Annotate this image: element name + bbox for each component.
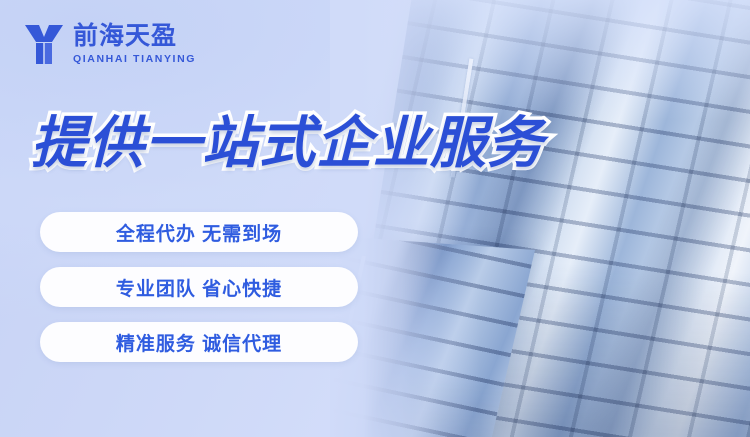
- feature-pill-2[interactable]: 专业团队 省心快捷: [40, 267, 358, 307]
- tianying-y-mark-icon: [24, 22, 64, 66]
- brand-logo[interactable]: 前海天盈 QIANHAI TIANYING: [24, 22, 196, 66]
- feature-pill-1[interactable]: 全程代办 无需到场: [40, 212, 358, 252]
- feature-pill-2-label: 专业团队 省心快捷: [116, 274, 282, 301]
- brand-name-en: QIANHAI TIANYING: [73, 54, 196, 65]
- brand-logo-text: 前海天盈 QIANHAI TIANYING: [73, 24, 196, 65]
- feature-pill-1-label: 全程代办 无需到场: [116, 219, 282, 246]
- feature-pill-list: 全程代办 无需到场 专业团队 省心快捷 精准服务 诚信代理: [40, 212, 358, 362]
- building-photo: [330, 0, 750, 437]
- promo-banner: 前海天盈 QIANHAI TIANYING 提供一站式企业服务 全程代办 无需到…: [0, 0, 750, 437]
- brand-name-cn: 前海天盈: [73, 24, 196, 49]
- feature-pill-3[interactable]: 精准服务 诚信代理: [40, 322, 358, 362]
- page-title: 提供一站式企业服务: [31, 98, 544, 179]
- feature-pill-3-label: 精准服务 诚信代理: [116, 329, 282, 356]
